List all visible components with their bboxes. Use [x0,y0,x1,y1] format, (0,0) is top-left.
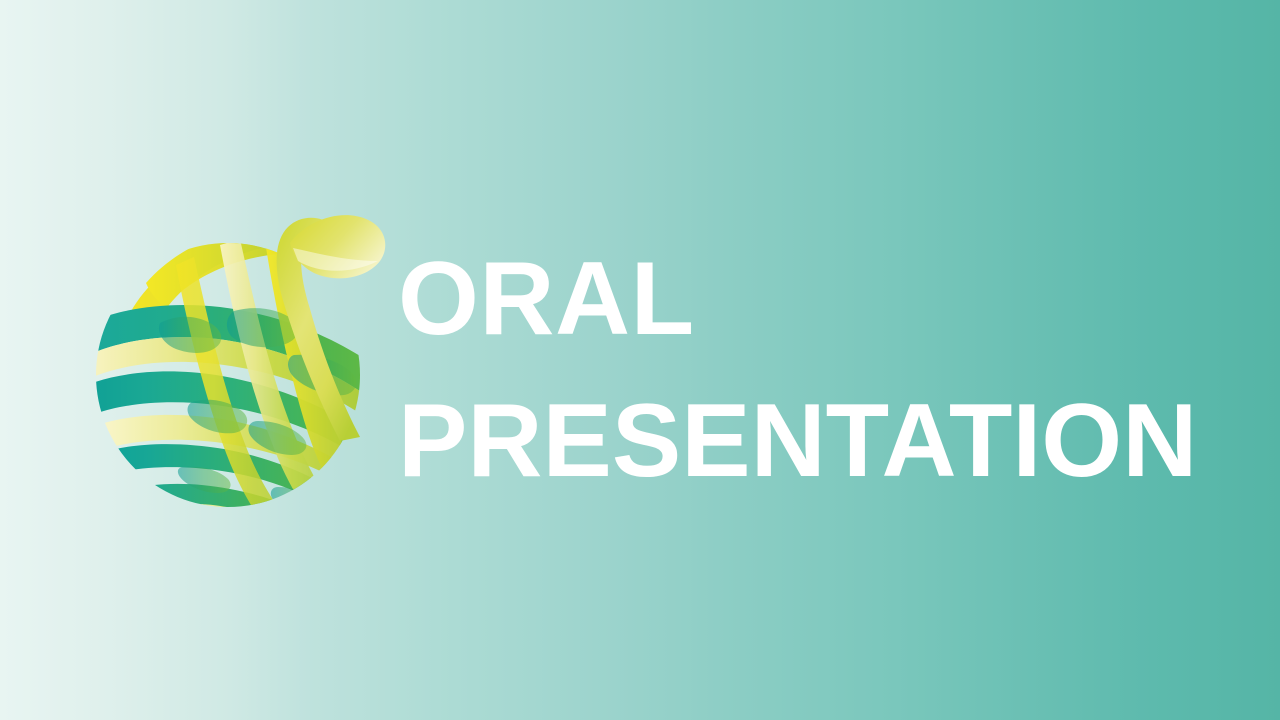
globe-ribbon-leaf-logo [88,205,388,520]
slide-title-block: ORAL PRESENTATION [398,228,1218,512]
slide-title-line-1: ORAL [398,228,1218,370]
presentation-slide: ORAL PRESENTATION [0,0,1280,720]
slide-title-line-2: PRESENTATION [398,370,1218,512]
globe-logo-svg [88,205,388,520]
slide-content: ORAL PRESENTATION [0,0,1280,720]
